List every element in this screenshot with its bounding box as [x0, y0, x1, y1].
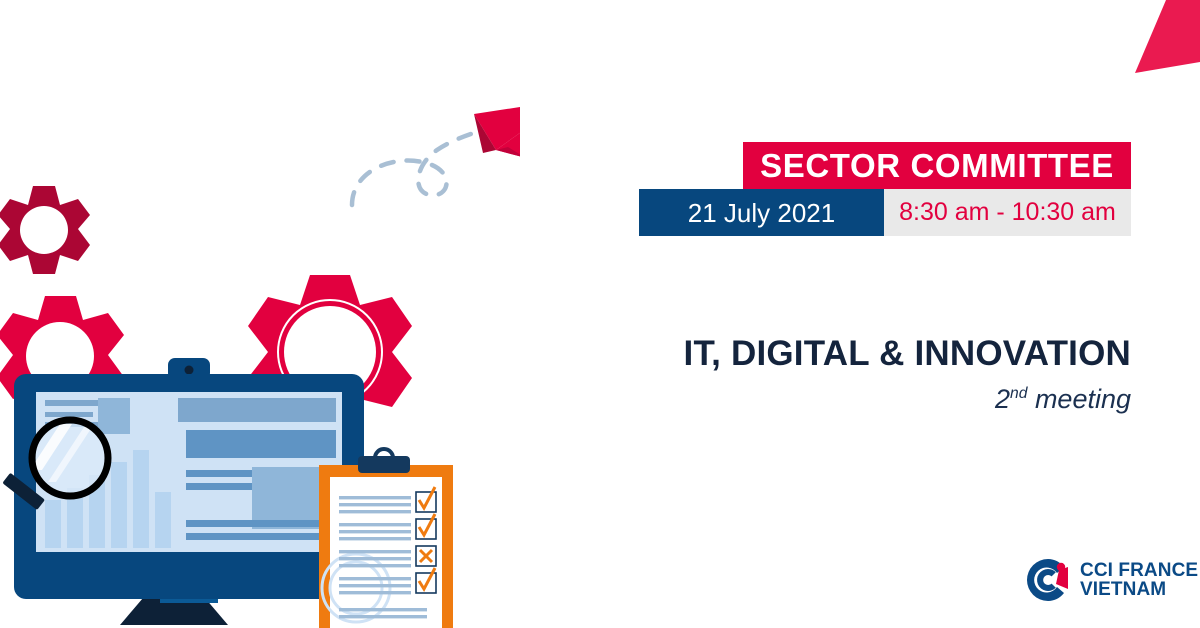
event-header-bars: SECTOR COMMITTEE 21 July 2021 8:30 am - …: [639, 142, 1131, 236]
event-time-bar: 8:30 am - 10:30 am: [884, 189, 1131, 236]
cci-logo-wordmark: CCI FRANCE VIETNAM: [1080, 561, 1198, 600]
corner-triangle-decoration: [1120, 0, 1200, 75]
event-banner: SECTOR COMMITTEE 21 July 2021 8:30 am - …: [0, 0, 1200, 628]
logo-line-1: CCI FRANCE: [1080, 561, 1198, 580]
event-date-label: 21 July 2021: [688, 200, 835, 226]
it-digital-illustration: [0, 0, 520, 628]
checklist-clipboard-icon: [319, 449, 453, 628]
cci-france-vietnam-logo: CCI FRANCE VIETNAM: [1024, 556, 1198, 604]
dashed-flight-trail-icon: [352, 131, 480, 205]
event-date-bar: 21 July 2021: [639, 189, 884, 236]
paper-plane-icon: [474, 100, 520, 158]
sector-committee-bar: SECTOR COMMITTEE: [743, 142, 1131, 189]
gear-top-left-icon: [0, 186, 90, 274]
date-time-row: 21 July 2021 8:30 am - 10:30 am: [639, 189, 1131, 236]
cci-logo-mark-icon: [1024, 556, 1072, 604]
meeting-word: meeting: [1035, 384, 1131, 414]
ordinal-suffix: nd: [1010, 385, 1027, 402]
meeting-ordinal-subtitle: 2nd meeting: [600, 385, 1131, 415]
logo-line-2: VIETNAM: [1080, 580, 1198, 599]
event-time-label: 8:30 am - 10:30 am: [899, 200, 1116, 225]
event-headline: IT, DIGITAL & INNOVATION 2nd meeting: [600, 334, 1131, 415]
page-title: IT, DIGITAL & INNOVATION: [600, 334, 1131, 373]
sector-committee-label: SECTOR COMMITTEE: [760, 149, 1114, 182]
checklist-item-3: [416, 546, 436, 566]
ordinal-number: 2: [995, 384, 1010, 414]
